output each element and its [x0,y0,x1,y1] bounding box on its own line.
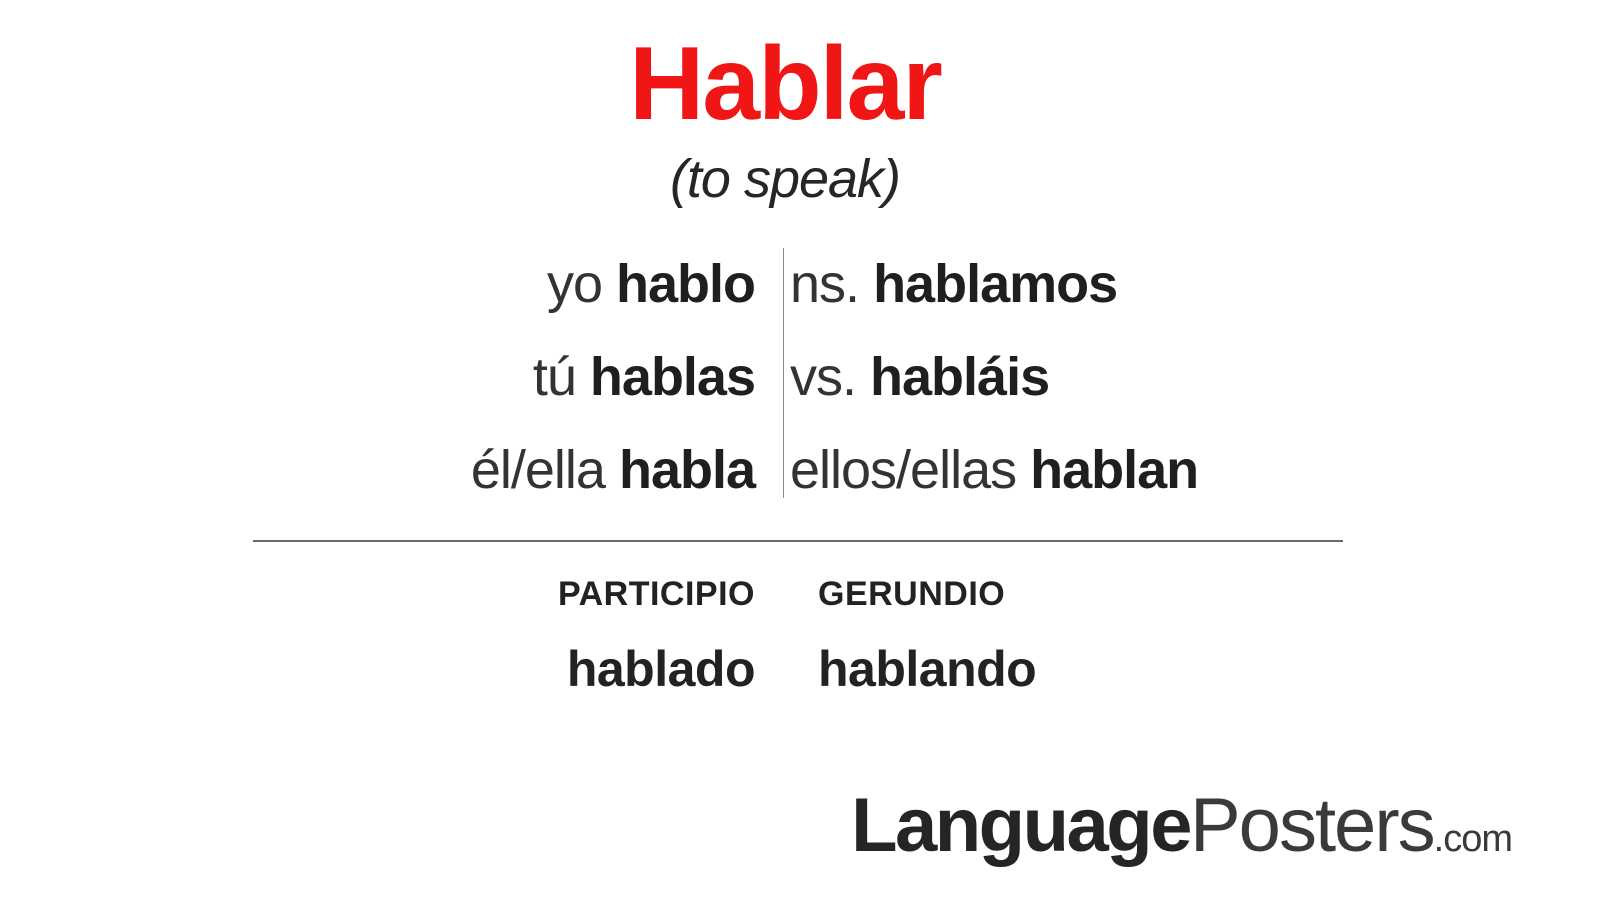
pronoun-label: ellos/ellas [790,440,1016,500]
verb-form: habla [619,440,755,500]
gerund-value: hablando [818,641,1036,697]
participle-value: hablado [567,641,755,697]
participle-label: PARTICIPIO [558,575,755,613]
gerund-label: GERUNDIO [818,575,1005,613]
conjugation-table: yo hablo ns. hablamos tú hablas vs. habl… [0,248,1570,498]
pronoun-label: él/ella [471,440,605,500]
conjugation-cell-plural-1: ns. hablamos [755,254,1570,314]
nonfinite-values-row: hablado hablando [0,638,1570,700]
pronoun-label: tú [533,347,576,407]
conjugation-cell-plural-2: vs. habláis [755,347,1570,407]
verb-form: hablamos [873,254,1117,314]
verb-form: hablas [590,347,755,407]
conjugation-cell-plural-3: ellos/ellas hablan [755,440,1570,500]
conjugation-cell-singular-2: tú hablas [0,347,755,407]
section-divider [253,540,1343,542]
brand-logo: LanguagePosters.com [851,788,1512,864]
brand-name-primary: Language [851,783,1190,868]
table-row: él/ella habla ellos/ellas hablan [0,440,1570,533]
table-row: yo hablo ns. hablamos [0,254,1570,347]
table-row: tú hablas vs. habláis [0,347,1570,440]
verb-form: hablo [616,254,755,314]
nonfinite-labels-row: PARTICIPIO GERUNDIO [0,572,1570,616]
pronoun-label: yo [547,254,602,314]
page-title: Hablar [0,32,1570,136]
verb-form: habláis [870,347,1049,407]
pronoun-label: vs. [790,347,856,407]
verb-conjugation-poster: Hablar (to speak) yo hablo ns. hablamos … [0,0,1600,900]
verb-form: hablan [1030,440,1198,500]
brand-tld: .com [1434,818,1512,860]
conjugation-cell-singular-3: él/ella habla [0,440,755,500]
pronoun-label: ns. [790,254,859,314]
conjugation-cell-singular-1: yo hablo [0,254,755,314]
verb-translation: (to speak) [0,152,1570,206]
nonfinite-forms-section: PARTICIPIO GERUNDIO hablado hablando [0,572,1570,700]
brand-name-secondary: Posters [1190,783,1434,868]
